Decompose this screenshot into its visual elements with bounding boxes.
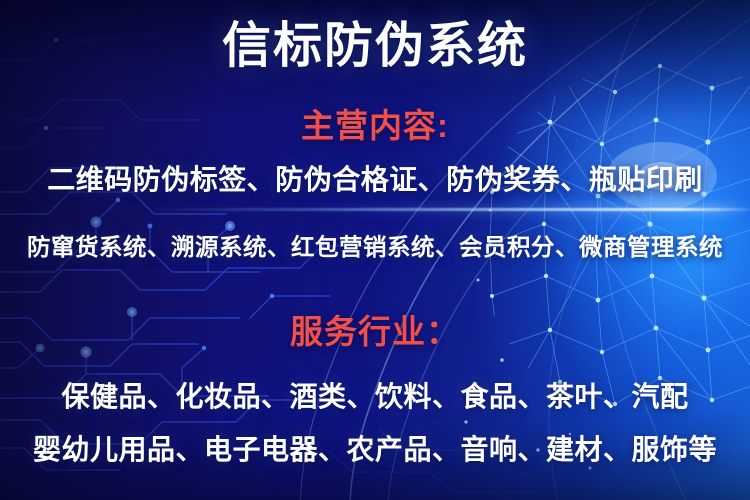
service-industries-line-2: 婴幼儿用品、电子电器、农产品、音响、建材、服饰等 [0, 428, 750, 468]
service-industries-line-1: 保健品、化妆品、酒类、饮料、食品、茶叶、汽配 [0, 375, 750, 415]
main-business-line-1: 二维码防伪标签、防伪合格证、防伪奖券、瓶贴印刷 [0, 158, 750, 198]
poster-title: 信标防伪系统 [0, 18, 750, 74]
section-heading-main-business: 主营内容: [0, 99, 750, 147]
promo-poster: 信标防伪系统 主营内容: 二维码防伪标签、防伪合格证、防伪奖券、瓶贴印刷 防窜货… [0, 0, 750, 500]
main-business-line-2: 防窜货系统、溯源系统、红包营销系统、会员积分、微商管理系统 [0, 228, 750, 262]
poster-text-layer: 信标防伪系统 主营内容: 二维码防伪标签、防伪合格证、防伪奖券、瓶贴印刷 防窜货… [0, 0, 750, 500]
section-heading-service-industries: 服务行业： [0, 305, 750, 353]
